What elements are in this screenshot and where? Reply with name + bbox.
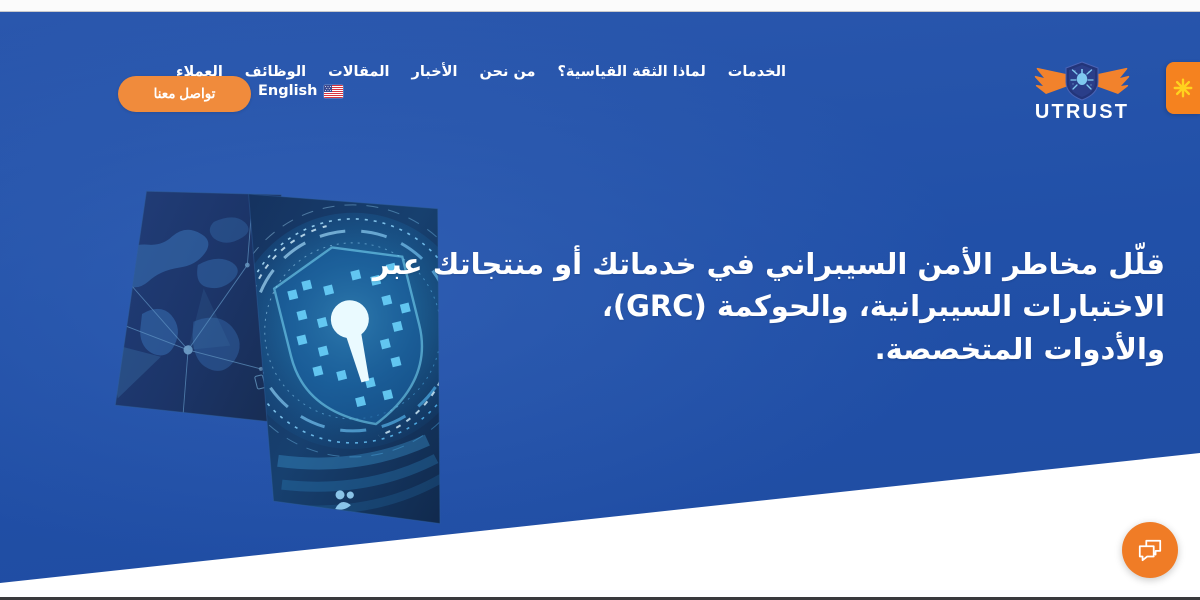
nav-item-services[interactable]: الخدمات	[717, 59, 797, 86]
headline-line-2: الاختبارات السيبرانية، والحوكمة (GRC)،	[525, 285, 1165, 327]
nav-item-news[interactable]: الأخبار	[401, 59, 469, 86]
nav-links: الخدمات لماذا الثقة القياسية؟ من نحن الأ…	[165, 12, 797, 132]
nav-inner: تواصل معنا English	[0, 12, 1200, 132]
page-root: قلّل مخاطر الأمن السيبراني في خدماتك أو …	[0, 0, 1200, 600]
headline-line-1: قلّل مخاطر الأمن السيبراني في خدماتك أو …	[525, 243, 1165, 285]
site-logo[interactable]: UTRUST	[1032, 60, 1132, 132]
headline-line-3: والأدوات المتخصصة.	[525, 328, 1165, 370]
nav-item-clients[interactable]: العملاء	[165, 59, 234, 86]
nav-item-articles[interactable]: المقالات	[317, 59, 400, 86]
hero-headline: قلّل مخاطر الأمن السيبراني في خدماتك أو …	[525, 243, 1165, 370]
nav-item-about-us[interactable]: من نحن	[468, 59, 546, 86]
nav-item-careers[interactable]: الوظائف	[234, 59, 317, 86]
browser-chrome-top-strip	[0, 0, 1200, 12]
logo-wordmark: UTRUST	[1035, 101, 1129, 124]
main-navigation: تواصل معنا English	[0, 12, 1200, 132]
winged-shield-logo-icon	[1034, 60, 1130, 102]
starburst-icon	[1172, 77, 1194, 99]
nav-item-why-utrust[interactable]: لماذا الثقة القياسية؟	[546, 59, 716, 86]
chat-widget-button[interactable]	[1122, 522, 1178, 578]
side-tab-button[interactable]	[1166, 62, 1200, 114]
chat-bubbles-icon	[1137, 537, 1163, 563]
